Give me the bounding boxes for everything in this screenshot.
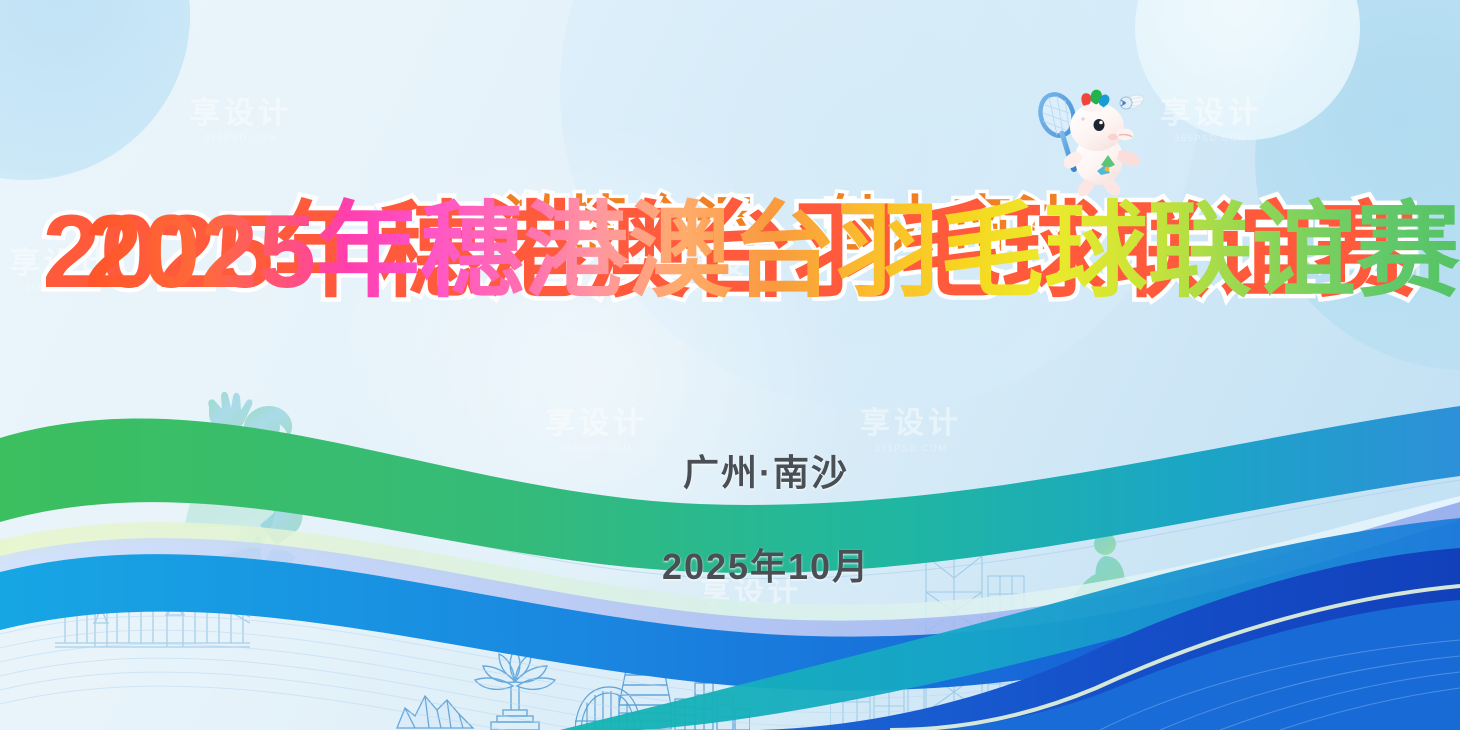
event-meta: 广州·南沙 2025年10月: [0, 402, 1460, 632]
event-title-wrapper: 2025年穗港澳台羽毛球联谊赛 2025年穗港澳台羽毛球联谊赛: [0, 196, 1460, 308]
mascot-chinese-white-dolphin: [1027, 83, 1147, 198]
event-title: 2025年穗港澳台羽毛球联谊赛: [42, 196, 1460, 308]
event-date: 2025年10月: [662, 546, 870, 587]
event-location: 广州·南沙: [683, 452, 849, 493]
event-poster: 享设计 365PSD.COM 享设计 365PSD.COM 享设计 365PSD…: [0, 0, 1460, 730]
